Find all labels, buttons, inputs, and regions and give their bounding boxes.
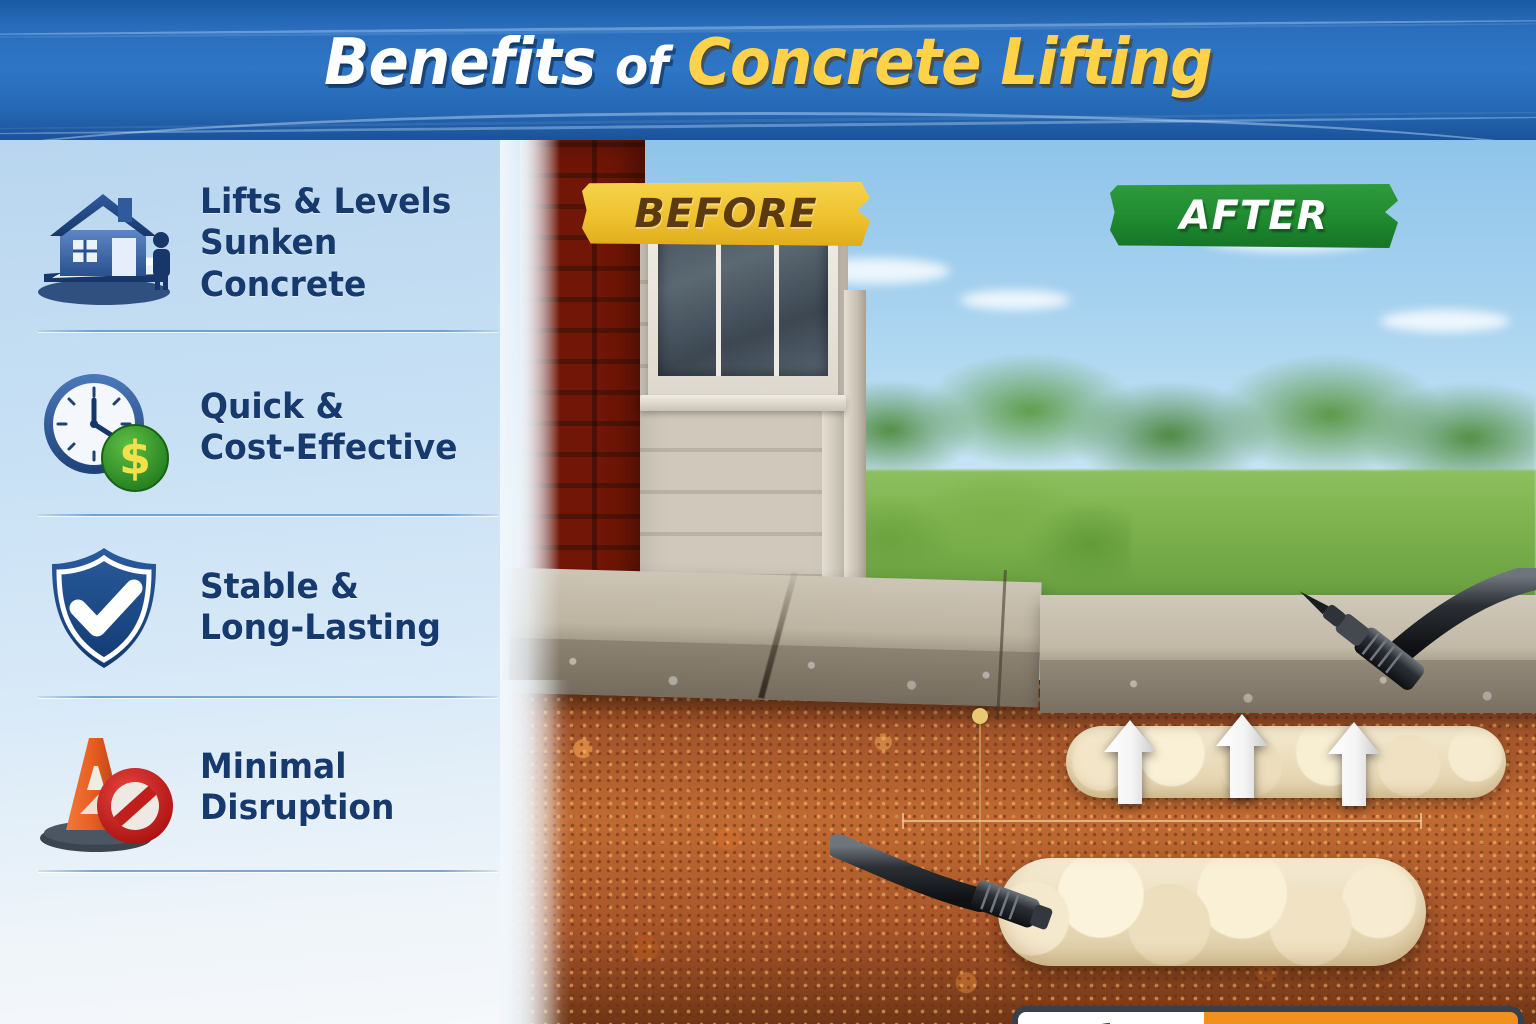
after-label-text: AFTER	[1180, 193, 1329, 239]
benefit-label: Stable & Long-Lasting	[200, 567, 441, 650]
before-after-photo: BEFORE AFTER	[500, 140, 1536, 1024]
benefit-line-1: Stable &	[200, 567, 441, 608]
benefit-line-1: Minimal	[200, 747, 394, 788]
before-label-text: BEFORE	[634, 191, 817, 237]
infographic-canvas: Benefits of Concrete Lifting	[0, 0, 1536, 1024]
benefit-line-2: Cost-Effective	[200, 428, 457, 469]
benefit-item-stable-long-lasting: Stable & Long-Lasting	[32, 542, 504, 674]
benefit-line-2: Sunken Concrete	[200, 223, 486, 306]
page-title: Benefits of Concrete Lifting	[54, 26, 1482, 100]
before-label-ribbon: BEFORE	[582, 182, 870, 246]
benefit-label: Minimal Disruption	[200, 747, 394, 830]
benefit-line-1: Lifts & Levels	[200, 182, 486, 223]
benefit-line-2: Long-Lasting	[200, 608, 441, 649]
svg-text:$: $	[119, 431, 151, 485]
benefit-divider	[38, 870, 498, 872]
cpl-logo: CPL Concrete Pressure Lifting	[1012, 1006, 1524, 1024]
benefit-divider	[38, 330, 498, 332]
clock-dollar-icon: $	[32, 362, 182, 494]
header-arc-decoration	[0, 112, 1536, 140]
cpl-abbr-text: CPL	[1281, 1012, 1441, 1024]
cpl-mark-icon	[1012, 1006, 1204, 1024]
lift-arrow-1	[1102, 718, 1158, 806]
cloud	[960, 290, 1070, 310]
benefits-panel: Lifts & Levels Sunken Concrete	[0, 140, 540, 1024]
body-area: Lifts & Levels Sunken Concrete	[0, 140, 1536, 1024]
injection-gun-nozzle	[1262, 568, 1536, 708]
after-label-ribbon: AFTER	[1110, 184, 1398, 248]
title-concrete-lifting: Concrete Lifting	[687, 26, 1212, 100]
cpl-wordmark: CPL	[1204, 1006, 1524, 1024]
window-sill	[640, 395, 846, 411]
photo-left-fade	[500, 140, 560, 1024]
injection-port	[972, 708, 988, 724]
traffic-cone-icon	[32, 722, 182, 854]
shield-check-icon	[32, 542, 182, 674]
benefit-item-quick-cost-effective: $ Quick & Cost-Effective	[32, 362, 504, 494]
house-icon	[32, 178, 182, 310]
lift-arrow-2	[1214, 712, 1270, 800]
benefit-label: Quick & Cost-Effective	[200, 387, 457, 470]
benefit-item-minimal-disruption: Minimal Disruption	[32, 722, 504, 854]
benefit-line-2: Disruption	[200, 788, 394, 829]
benefit-divider	[38, 514, 498, 516]
benefit-label: Lifts & Levels Sunken Concrete	[200, 182, 486, 306]
title-of: of	[615, 37, 667, 97]
injection-probe-line	[979, 715, 981, 865]
title-benefits: Benefits	[324, 26, 595, 100]
benefit-item-lifts-levels: Lifts & Levels Sunken Concrete	[32, 178, 504, 310]
lift-arrow-3	[1326, 720, 1382, 808]
logo-bar: CPL	[1012, 1006, 1524, 1024]
header-banner: Benefits of Concrete Lifting	[0, 0, 1536, 140]
measurement-line	[902, 820, 1422, 822]
benefit-divider	[38, 696, 498, 698]
benefit-line-1: Quick &	[200, 387, 457, 428]
